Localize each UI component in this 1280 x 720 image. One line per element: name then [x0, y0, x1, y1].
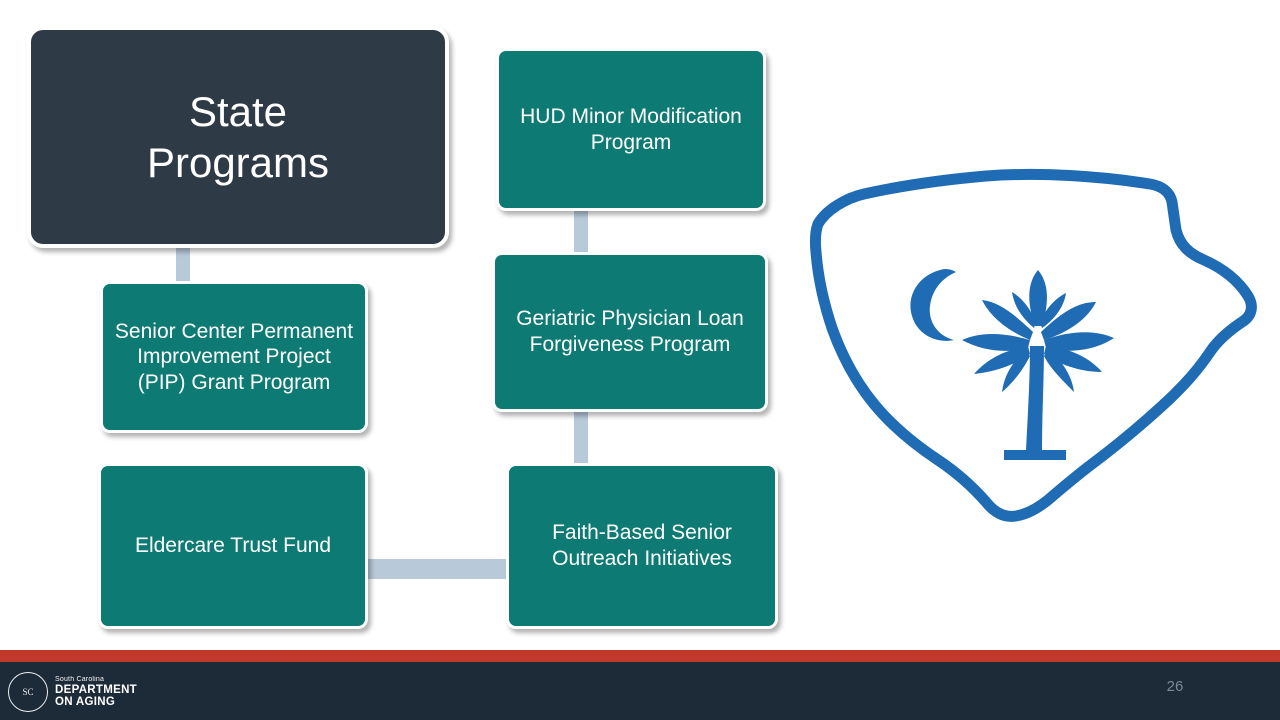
footer-org-line3: ON AGING [55, 696, 137, 708]
state-outline-path [815, 174, 1251, 516]
connector-geriatric-to-faith [574, 408, 588, 470]
node-eldercare-trust-fund[interactable]: Eldercare Trust Fund [98, 463, 368, 629]
footer-accent-bar-red [0, 650, 1280, 662]
footer-logo: SC South Carolina DEPARTMENT ON AGING [8, 671, 137, 713]
node-senior-center-pip-grant-program[interactable]: Senior Center Permanent Improvement Proj… [100, 281, 368, 433]
south-carolina-map-icon [790, 150, 1270, 570]
node-state-programs-line2: Programs [147, 139, 329, 186]
footer-bar-navy [0, 662, 1280, 720]
node-state-programs-line1: State [189, 88, 287, 135]
node-geriatric-label: Geriatric Physician Loan Forgiveness Pro… [495, 306, 765, 357]
node-eldercare-label: Eldercare Trust Fund [101, 533, 365, 559]
palmetto-base [1004, 450, 1066, 460]
crescent-icon [910, 269, 956, 341]
node-state-programs[interactable]: StatePrograms [27, 26, 449, 248]
state-seal-icon: SC [8, 672, 48, 712]
node-hud-minor-modification-program[interactable]: HUD Minor Modification Program [496, 48, 766, 211]
slide-number: 26 [1160, 678, 1190, 695]
palmetto-trunk [1026, 346, 1044, 450]
connector-eldercare-to-faith [362, 559, 514, 579]
node-geriatric-physician-loan-forgiveness-program[interactable]: Geriatric Physician Loan Forgiveness Pro… [492, 252, 768, 412]
footer-org-line2: DEPARTMENT [55, 684, 137, 696]
slide-canvas: StatePrograms HUD Minor Modification Pro… [0, 0, 1280, 720]
footer-org-line1: South Carolina [55, 676, 137, 683]
node-faith-based-senior-outreach-initiatives[interactable]: Faith-Based Senior Outreach Initiatives [506, 463, 778, 629]
node-faith-label: Faith-Based Senior Outreach Initiatives [509, 520, 775, 571]
node-hud-label: HUD Minor Modification Program [499, 104, 763, 155]
node-pip-label: Senior Center Permanent Improvement Proj… [103, 319, 365, 396]
node-state-programs-label: StatePrograms [31, 86, 445, 188]
footer-org-text: South Carolina DEPARTMENT ON AGING [55, 676, 137, 707]
